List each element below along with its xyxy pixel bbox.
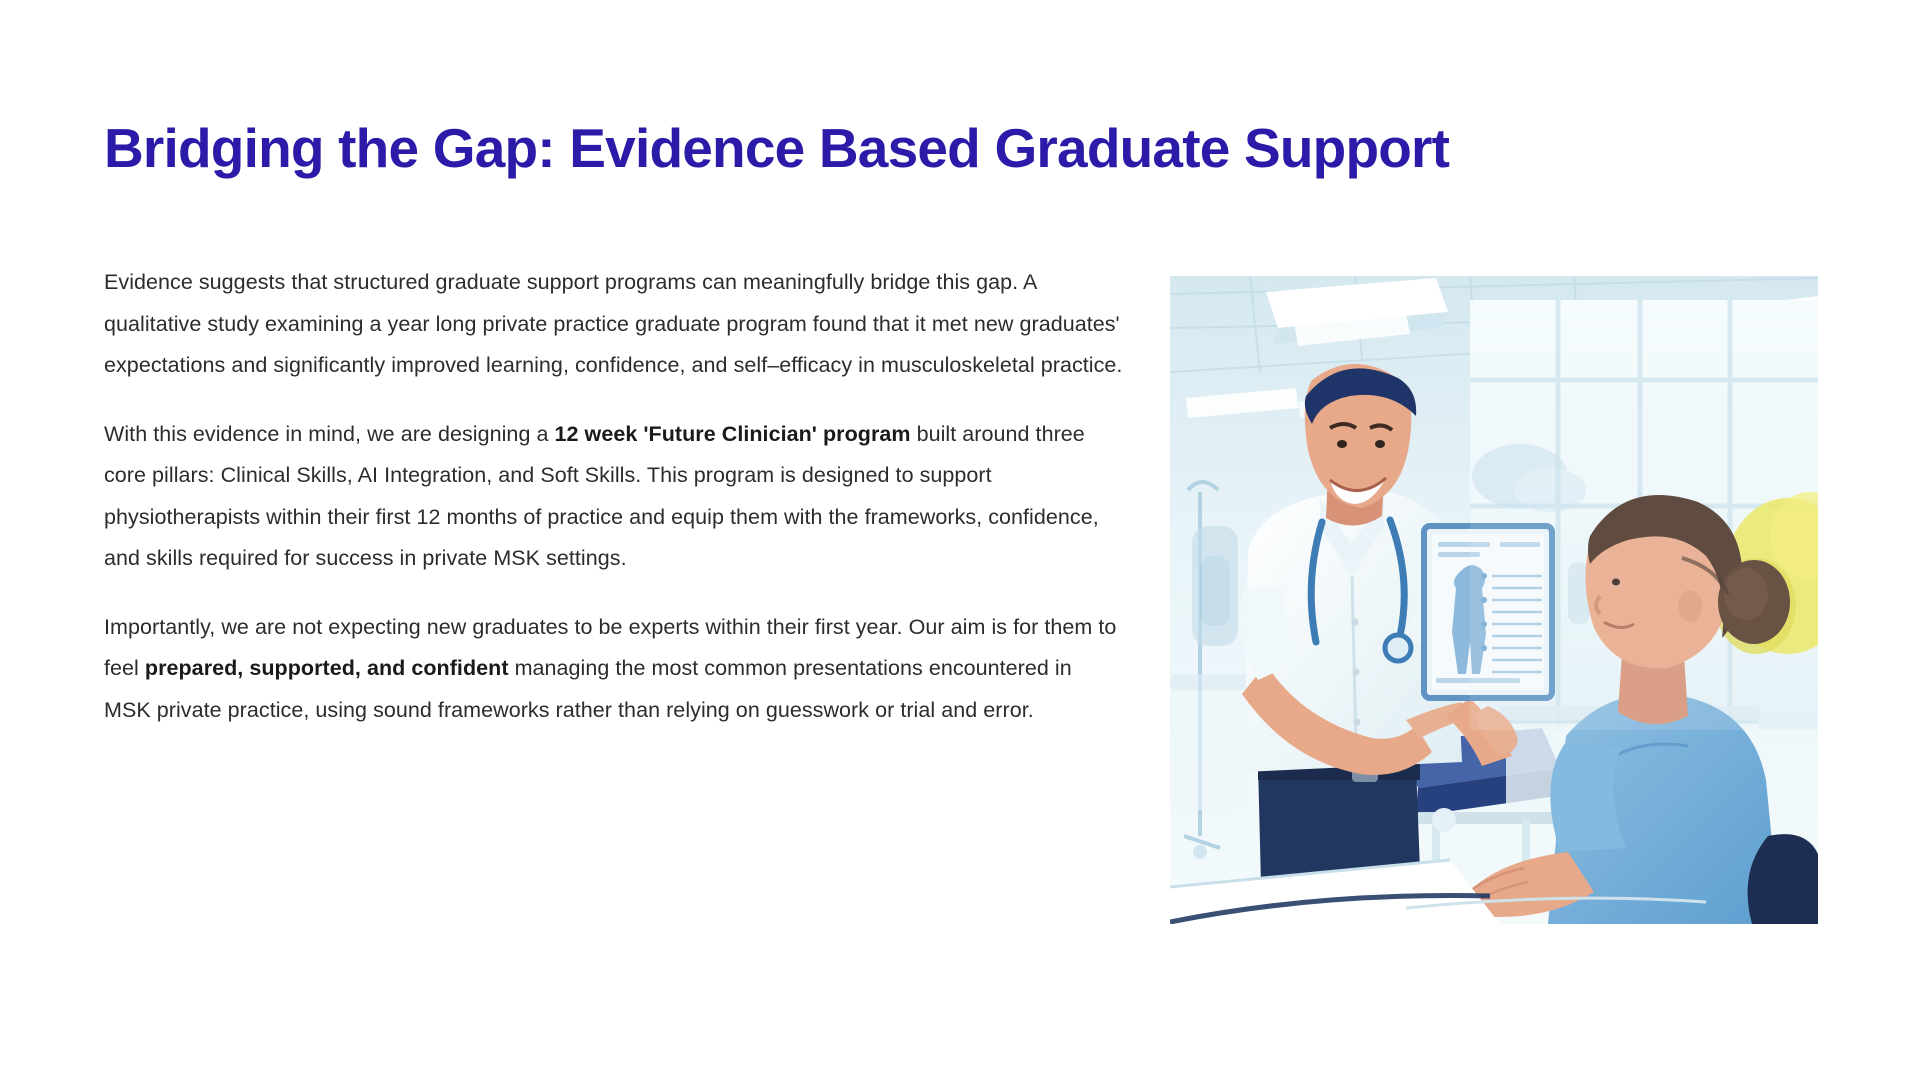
paragraph-2-bold-phrase: 12 week 'Future Clinician' program <box>555 422 911 446</box>
body-text-column: Evidence suggests that structured gradua… <box>104 262 1124 731</box>
slide-content: Evidence suggests that structured gradua… <box>0 262 1920 962</box>
paragraph-2-lead: With this evidence in mind, we are desig… <box>104 422 555 446</box>
slide-root: Bridging the Gap: Evidence Based Graduat… <box>0 0 1920 1080</box>
body-paragraph-1: Evidence suggests that structured gradua… <box>104 262 1124 387</box>
body-paragraph-2: With this evidence in mind, we are desig… <box>104 414 1124 580</box>
clinic-illustration-svg <box>1170 276 1818 924</box>
body-paragraph-3: Importantly, we are not expecting new gr… <box>104 607 1124 732</box>
clinic-illustration <box>1170 276 1818 924</box>
paragraph-3-bold-phrase: prepared, supported, and confident <box>145 656 509 680</box>
page-title: Bridging the Gap: Evidence Based Graduat… <box>104 118 1804 180</box>
stethoscope-bell <box>1385 635 1411 661</box>
